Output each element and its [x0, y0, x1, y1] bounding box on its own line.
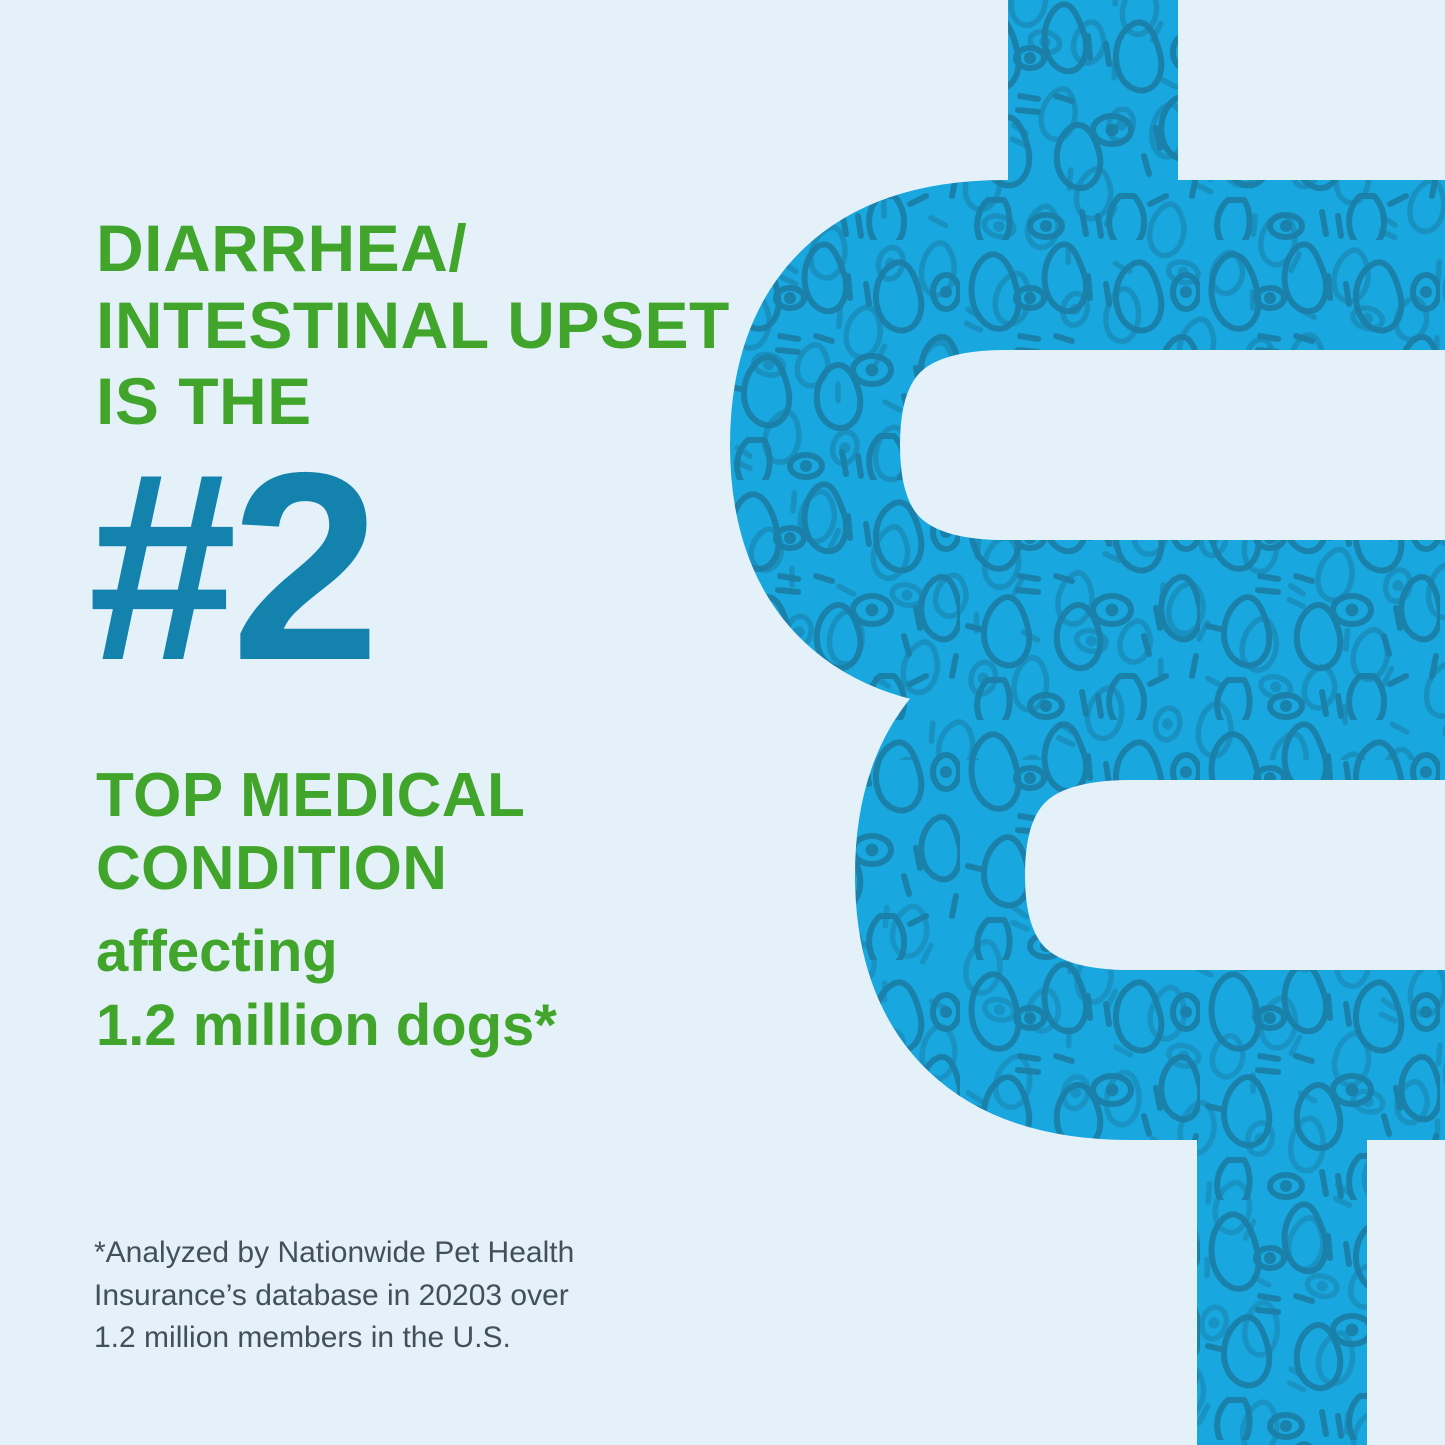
footnote: *Analyzed by Nationwide Pet Health Insur… [94, 1232, 814, 1360]
subheadline-line-1: TOP MEDICAL [96, 760, 796, 833]
footnote-line-2: Insurance’s database in 20203 over [94, 1275, 814, 1318]
affected-count-line-1: affecting [96, 915, 856, 989]
headline: DIARRHEA/ INTESTINAL UPSET IS THE [96, 210, 816, 440]
affected-count: affecting 1.2 million dogs* [96, 915, 856, 1062]
footnote-line-1: *Analyzed by Nationwide Pet Health [94, 1232, 814, 1275]
headline-line-1: DIARRHEA/ [96, 210, 816, 287]
affected-count-line-2: 1.2 million dogs* [96, 989, 856, 1063]
rank-number: #2 [88, 432, 374, 700]
infographic-poster: DIARRHEA/ INTESTINAL UPSET IS THE #2 TOP… [0, 0, 1445, 1445]
footnote-line-3: 1.2 million members in the U.S. [94, 1317, 814, 1360]
subheadline-line-2: CONDITION [96, 833, 796, 906]
headline-line-2: INTESTINAL UPSET [96, 287, 816, 364]
subheadline: TOP MEDICAL CONDITION [96, 760, 796, 905]
